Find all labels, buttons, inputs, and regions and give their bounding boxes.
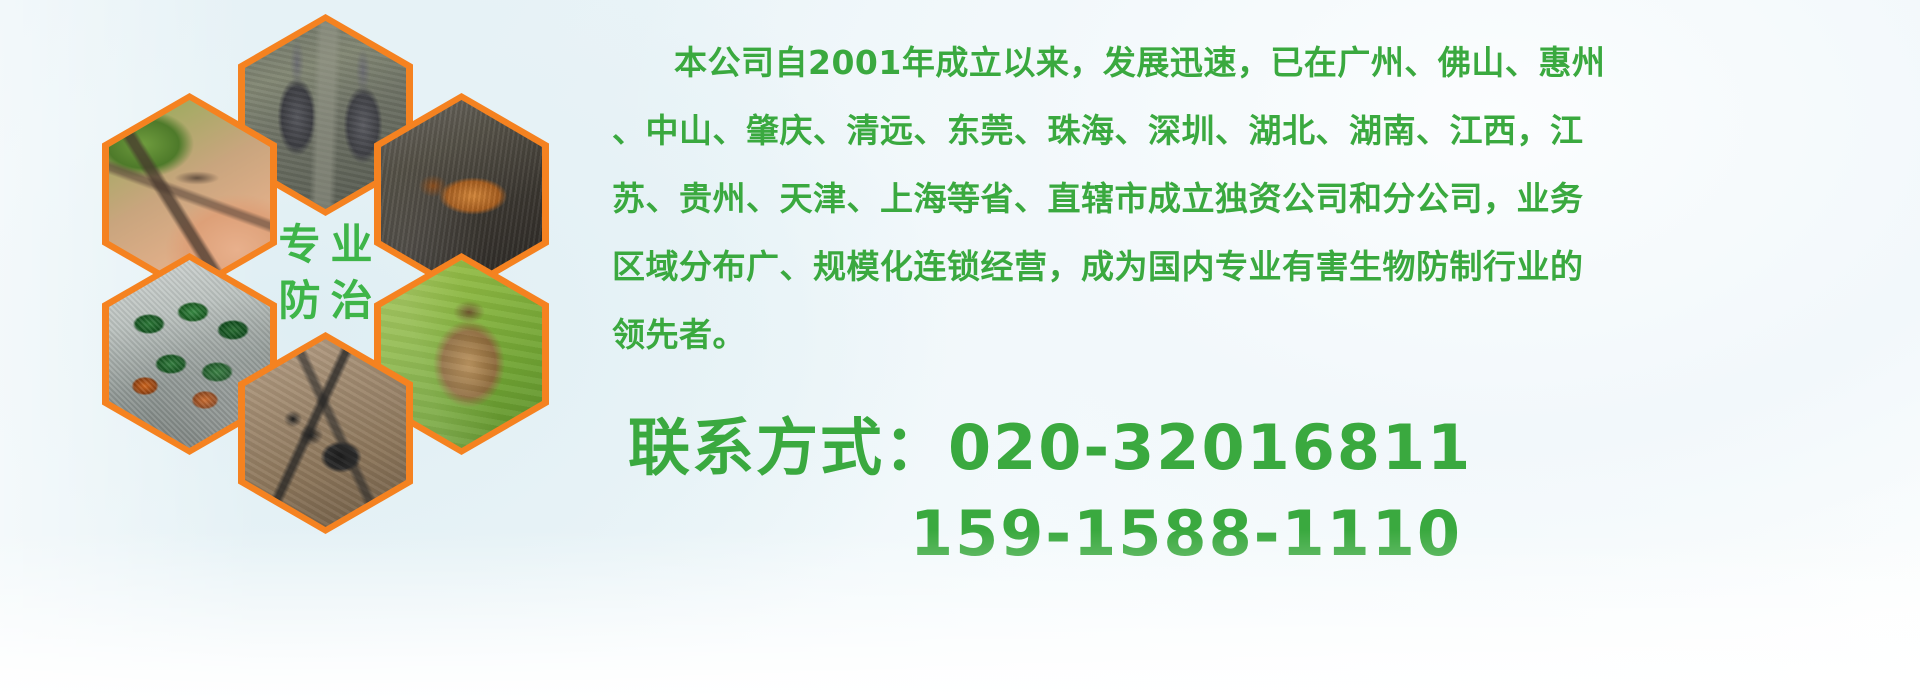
intro-line-3: 苏、贵州、天津、上海等省、直辖市成立独资公司和分公司，业务 bbox=[612, 170, 1902, 228]
intro-copy-block: 本公司自2001年成立以来，发展迅速，已在广州、佛山、惠州 、中山、肇庆、清远、… bbox=[612, 34, 1902, 374]
intro-line-2: 、中山、肇庆、清远、东莞、珠海、深圳、湖北、湖南、江西，江 bbox=[612, 102, 1902, 160]
contact-secondary-line: 159-1588-1110 bbox=[628, 491, 1888, 577]
intro-paragraph: 本公司自2001年成立以来，发展迅速，已在广州、佛山、惠州 、中山、肇庆、清远、… bbox=[612, 34, 1902, 364]
brand-slogan-line-2: 防治 bbox=[268, 276, 382, 326]
honeycomb-collage: 专业 防治 bbox=[88, 8, 588, 553]
intro-line-1: 本公司自2001年成立以来，发展迅速，已在广州、佛山、惠州 bbox=[612, 34, 1902, 92]
intro-line-4: 区域分布广、规模化连锁经营，成为国内专业有害生物防制行业的 bbox=[612, 238, 1902, 296]
intro-line-5: 领先者。 bbox=[612, 306, 1902, 364]
contact-primary-line: 联系方式：020-32016811 bbox=[628, 405, 1888, 491]
contact-block: 联系方式：020-32016811 159-1588-1110 bbox=[628, 405, 1888, 577]
hex-inner-ant bbox=[245, 339, 406, 527]
ant-photo bbox=[245, 339, 406, 527]
brand-slogan-line-1: 专业 bbox=[268, 220, 382, 270]
contact-phone-primary[interactable]: 020-32016811 bbox=[948, 411, 1472, 484]
company-intro-banner: 专业 防治 本公司自2001年成立以来，发展迅速，已在广州、佛山、惠州 、中山、… bbox=[0, 0, 1920, 700]
contact-phone-secondary[interactable]: 159-1588-1110 bbox=[910, 497, 1462, 570]
contact-label: 联系方式： bbox=[628, 411, 948, 484]
